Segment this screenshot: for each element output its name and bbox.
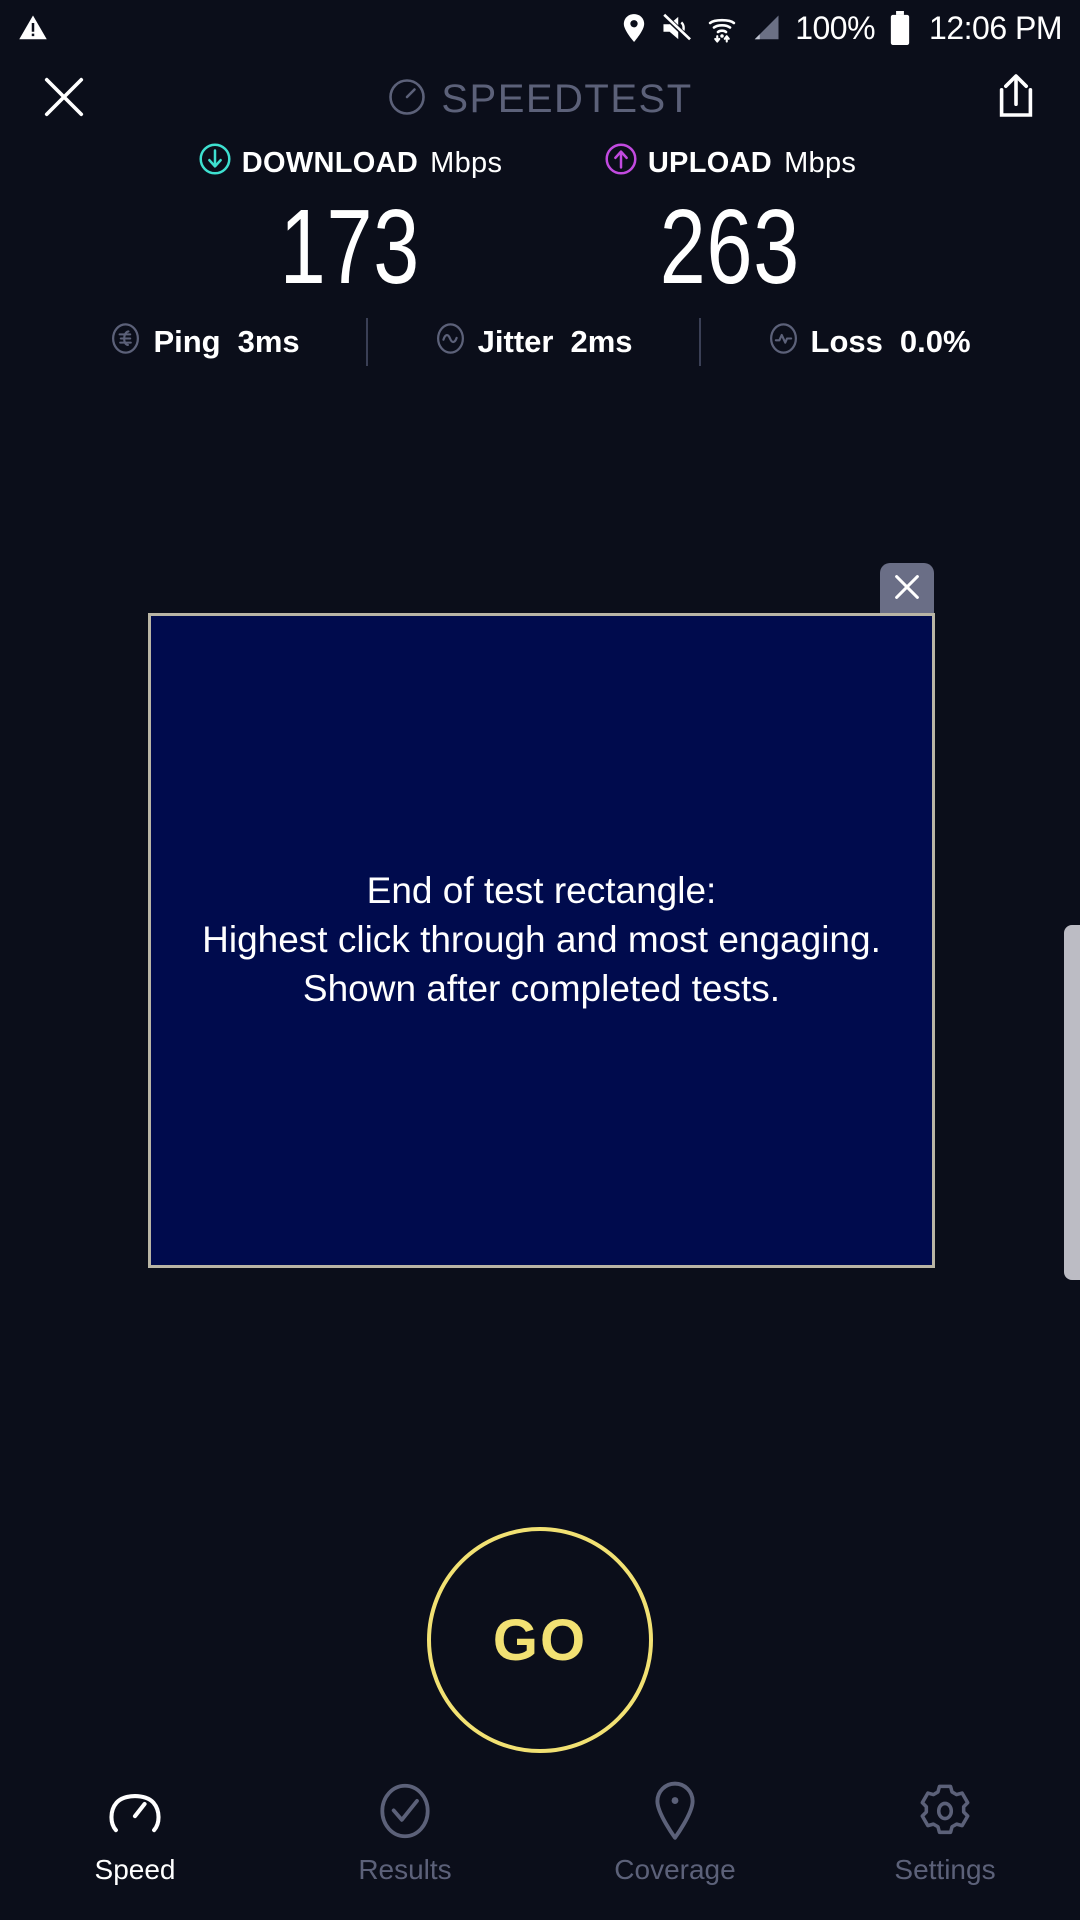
nav-item-coverage[interactable]: Coverage — [540, 1782, 810, 1886]
ad-close-x-icon — [892, 572, 922, 607]
results-panel: DOWNLOAD Mbps 173 UPLOAD Mbps 263 — [0, 142, 1080, 366]
ping-metric: Ping 3ms — [109, 322, 299, 363]
wifi-icon — [707, 13, 737, 43]
brand-title: SPEEDTEST — [441, 77, 692, 122]
ad-text: End of test rectangle: Highest click thr… — [182, 867, 901, 1013]
ping-label: Ping — [153, 324, 220, 360]
upload-label: UPLOAD — [648, 147, 772, 180]
upload-unit: Mbps — [784, 147, 856, 180]
upload-header: UPLOAD Mbps — [604, 142, 856, 184]
nav-item-results[interactable]: Results — [270, 1782, 540, 1886]
ping-jitter-loss-row: Ping 3ms Jitter 2ms — [0, 318, 1080, 366]
go-button[interactable]: GO — [427, 1527, 653, 1753]
volume-muted-icon — [661, 13, 693, 43]
loss-label: Loss — [811, 324, 883, 360]
nav-item-speed[interactable]: Speed — [0, 1782, 270, 1886]
page-scrollbar[interactable] — [1064, 925, 1080, 1280]
jitter-wave-icon — [434, 322, 467, 363]
status-bar: 100% 12:06 PM — [0, 0, 1080, 56]
advertisement-banner[interactable]: End of test rectangle: Highest click thr… — [148, 613, 935, 1268]
upload-arrow-circle-icon — [604, 142, 638, 184]
upload-value: 263 — [660, 194, 800, 300]
battery-percent-label: 100% — [795, 10, 875, 47]
download-value: 173 — [280, 194, 420, 300]
go-button-label: GO — [493, 1607, 587, 1674]
loss-value: 0.0% — [900, 324, 971, 360]
warning-triangle-icon — [18, 13, 48, 43]
download-unit: Mbps — [430, 147, 502, 180]
divider-1 — [366, 318, 368, 366]
speedometer-icon — [387, 77, 427, 122]
ad-close-button[interactable] — [880, 563, 934, 615]
ping-value: 3ms — [238, 324, 300, 360]
download-upload-row: DOWNLOAD Mbps 173 UPLOAD Mbps 263 — [0, 142, 1080, 300]
battery-full-icon — [889, 11, 911, 45]
jitter-metric: Jitter 2ms — [434, 322, 633, 363]
nav-label-results: Results — [358, 1854, 451, 1886]
cellular-signal-icon — [751, 14, 781, 42]
download-label: DOWNLOAD — [242, 147, 418, 180]
ad-line-2: Highest click through and most engaging. — [202, 916, 881, 965]
loss-metric: Loss 0.0% — [767, 322, 971, 363]
ad-line-1: End of test rectangle: — [202, 867, 881, 916]
check-circle-icon — [377, 1782, 433, 1840]
status-bar-clock: 12:06 PM — [929, 10, 1062, 47]
status-bar-left — [18, 13, 48, 43]
status-bar-right: 100% 12:06 PM — [621, 10, 1062, 47]
nav-label-speed: Speed — [95, 1854, 176, 1886]
speedometer-gauge-icon — [107, 1782, 163, 1840]
gear-icon — [916, 1782, 974, 1840]
share-upload-icon — [994, 73, 1038, 126]
ping-icon — [109, 322, 142, 363]
location-pin-icon — [621, 13, 647, 43]
ad-line-3: Shown after completed tests. — [202, 965, 881, 1014]
bottom-navigation: Speed Results Coverage Settings — [0, 1768, 1080, 1920]
download-arrow-circle-icon — [198, 142, 232, 184]
nav-label-coverage: Coverage — [614, 1854, 735, 1886]
divider-2 — [699, 318, 701, 366]
packet-loss-icon — [767, 322, 800, 363]
download-header: DOWNLOAD Mbps — [198, 142, 503, 184]
brand: SPEEDTEST — [0, 77, 1080, 122]
nav-item-settings[interactable]: Settings — [810, 1782, 1080, 1886]
nav-label-settings: Settings — [894, 1854, 995, 1886]
map-pin-icon — [652, 1782, 698, 1840]
upload-metric: UPLOAD Mbps 263 — [540, 142, 920, 300]
share-button[interactable] — [988, 71, 1044, 127]
download-metric: DOWNLOAD Mbps 173 — [160, 142, 540, 300]
jitter-value: 2ms — [570, 324, 632, 360]
jitter-label: Jitter — [478, 324, 554, 360]
app-bar: SPEEDTEST — [0, 56, 1080, 142]
